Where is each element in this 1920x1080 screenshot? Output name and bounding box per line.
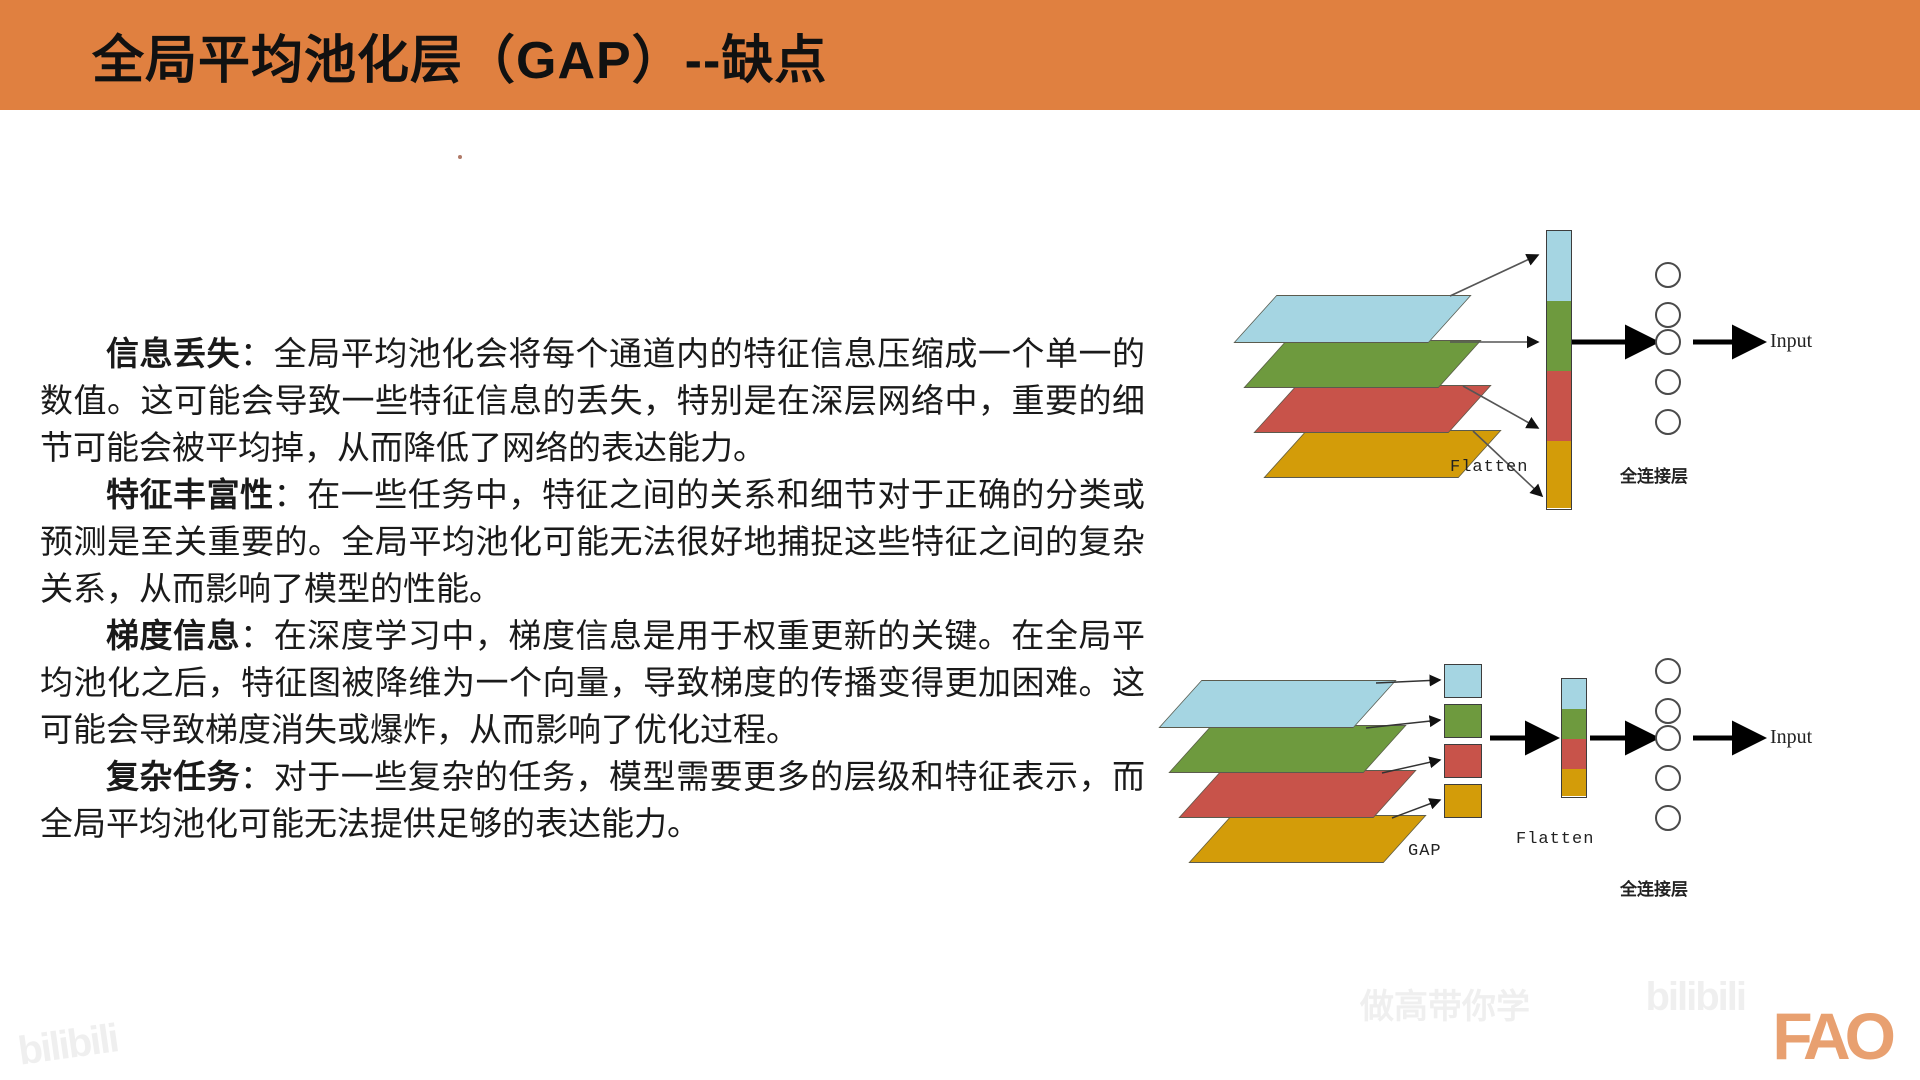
paragraph-separator: ： bbox=[240, 335, 274, 372]
flatten-segment-blue bbox=[1547, 231, 1571, 301]
neuron-node bbox=[1655, 369, 1681, 395]
flatten-segment-blue bbox=[1562, 679, 1586, 709]
flatten-segment-yellow bbox=[1562, 769, 1586, 796]
paragraph-separator: ： bbox=[240, 758, 274, 795]
feature-map-plane-green bbox=[1243, 340, 1481, 388]
neuron-node bbox=[1655, 765, 1681, 791]
feature-map-plane-blue bbox=[1233, 295, 1471, 343]
paragraph-gradient-information: 梯度信息：在深度学习中，梯度信息是用于权重更新的关键。在全局平均池化之后，特征图… bbox=[40, 612, 1145, 753]
neuron-node bbox=[1655, 805, 1681, 831]
paragraph-feature-richness: 特征丰富性：在一些任务中，特征之间的关系和细节对于正确的分类或预测是至关重要的。… bbox=[40, 471, 1145, 612]
feature-map-plane-green bbox=[1168, 725, 1406, 773]
feature-map-plane-red bbox=[1178, 770, 1416, 818]
gap-cell-green bbox=[1444, 704, 1482, 738]
neuron-node bbox=[1655, 698, 1681, 724]
feature-map-plane-yellow bbox=[1188, 815, 1426, 863]
gap-cell-blue bbox=[1444, 664, 1482, 698]
flatten-segment-red bbox=[1562, 739, 1586, 769]
paragraph-complex-tasks: 复杂任务：对于一些复杂的任务，模型需要更多的层级和特征表示，而全局平均池化可能无… bbox=[40, 753, 1145, 847]
neuron-node bbox=[1655, 262, 1681, 288]
paragraph-separator: ： bbox=[274, 476, 308, 513]
label-gap-bottom: GAP bbox=[1408, 842, 1442, 861]
gap-cell-yellow bbox=[1444, 784, 1482, 818]
neuron-node bbox=[1655, 658, 1681, 684]
slide-body-text: 信息丢失：全局平均池化会将每个通道内的特征信息压缩成一个单一的数值。这可能会导致… bbox=[40, 330, 1145, 847]
feature-map-plane-red bbox=[1253, 385, 1491, 433]
label-input-top: Input bbox=[1770, 330, 1812, 353]
watermark-bilibili-left: bilibili bbox=[15, 1016, 120, 1074]
label-input-bottom: Input bbox=[1770, 726, 1812, 749]
flatten-bar-bottom bbox=[1561, 678, 1587, 798]
stray-dot-mark bbox=[458, 155, 462, 159]
diagram-flatten-with-gap: GAP Flatten 全连接层 Input bbox=[1150, 530, 1920, 920]
flatten-bar-top bbox=[1546, 230, 1572, 510]
neuron-node bbox=[1655, 302, 1681, 328]
paragraph-separator: ： bbox=[240, 617, 274, 654]
slide-header-bar: 全局平均池化层（GAP）--缺点 bbox=[0, 0, 1920, 110]
flatten-segment-green bbox=[1547, 301, 1571, 371]
label-fully-connected-top: 全连接层 bbox=[1620, 462, 1688, 487]
feature-map-plane-blue bbox=[1158, 680, 1396, 728]
neuron-node bbox=[1655, 725, 1681, 751]
watermark-username: 做高带你学 bbox=[1360, 979, 1530, 1028]
paragraph-heading: 特征丰富性 bbox=[106, 476, 274, 513]
paragraph-information-loss: 信息丢失：全局平均池化会将每个通道内的特征信息压缩成一个单一的数值。这可能会导致… bbox=[40, 330, 1145, 471]
gap-cell-red bbox=[1444, 744, 1482, 778]
label-fully-connected-bottom: 全连接层 bbox=[1620, 875, 1688, 900]
page-title: 全局平均池化层（GAP）--缺点 bbox=[92, 18, 827, 93]
paragraph-heading: 复杂任务 bbox=[106, 758, 240, 795]
neuron-node bbox=[1655, 329, 1681, 355]
label-flatten-bottom: Flatten bbox=[1516, 830, 1594, 849]
label-flatten-top: Flatten bbox=[1450, 458, 1528, 477]
flatten-segment-green bbox=[1562, 709, 1586, 739]
flatten-segment-red bbox=[1547, 371, 1571, 441]
paragraph-heading: 信息丢失 bbox=[106, 335, 240, 372]
neuron-node bbox=[1655, 409, 1681, 435]
diagram-area: Flatten 全连接层 Input bbox=[1150, 200, 1920, 920]
watermark-bilibili-right: bilibili bbox=[1645, 975, 1745, 1020]
paragraph-heading: 梯度信息 bbox=[106, 617, 240, 654]
watermark-logo-fao: FAO bbox=[1772, 998, 1890, 1074]
flatten-segment-yellow bbox=[1547, 441, 1571, 508]
diagram-flatten-without-gap: Flatten 全连接层 Input bbox=[1150, 200, 1920, 530]
